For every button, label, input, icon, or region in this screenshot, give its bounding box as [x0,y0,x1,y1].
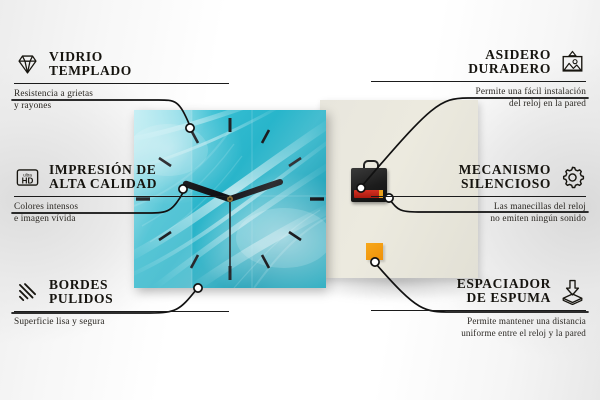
divider [14,196,229,197]
feature-title: IMPRESIÓN DE ALTA CALIDAD [49,163,157,192]
title-line-1: MECANISMO [459,163,551,177]
desc-line-2: del reloj en la pared [371,98,586,110]
title-line-2: DURADERO [468,62,551,76]
desc-line-2: no emiten ningún sonido [371,213,586,225]
feature-description: Superficie lisa y segura [14,316,229,328]
title-line-1: BORDES [49,278,113,292]
divider [371,310,586,311]
infographic-canvas: VIDRIO TEMPLADO Resistencia a grietas y … [0,0,600,400]
picture-hanger-icon [559,49,586,76]
title-line-1: IMPRESIÓN DE [49,163,157,177]
feature-title: BORDES PULIDOS [49,278,113,307]
feature-impresion-alta-calidad: ultra HD IMPRESIÓN DE ALTA CALIDAD Color… [14,163,229,226]
feature-header: BORDES PULIDOS [14,278,229,307]
feature-description: Las manecillas del reloj no emiten ningú… [371,201,586,226]
title-line-2: PULIDOS [49,292,113,306]
connector-dot-asidero [357,184,365,192]
desc-line-1: Permite una fácil instalación [371,86,586,98]
title-line-2: TEMPLADO [49,64,132,78]
divider [14,311,229,312]
title-line-2: DE ESPUMA [466,291,551,305]
feature-header: ultra HD IMPRESIÓN DE ALTA CALIDAD [14,163,229,192]
desc-line-1: Superficie lisa y segura [14,316,229,328]
desc-line-2: uniforme entre el reloj y la pared [371,327,586,339]
ultra-hd-icon: ultra HD [14,164,41,191]
feature-description: Permite una fácil instalación del reloj … [371,86,586,111]
desc-line-2: y rayones [14,100,229,112]
feature-header: ESPACIADOR DE ESPUMA [371,277,586,306]
feature-title: ESPACIADOR DE ESPUMA [457,277,551,306]
feature-description: Permite mantener una distancia uniforme … [371,315,586,339]
desc-line-1: Colores intensos [14,201,229,213]
diamond-icon [14,51,41,78]
desc-line-1: Las manecillas del reloj [371,201,586,213]
feature-vidrio-templado: VIDRIO TEMPLADO Resistencia a grietas y … [14,50,229,113]
feature-description: Colores intensos e imagen vívida [14,201,229,226]
divider [14,83,229,84]
feature-title: ASIDERO DURADERO [468,48,551,77]
hd-label: HD [22,176,34,185]
desc-line-1: Permite mantener una distancia [371,315,586,327]
title-line-1: ASIDERO [485,48,551,62]
divider [371,196,586,197]
title-line-2: SILENCIOSO [461,177,551,191]
feature-title: VIDRIO TEMPLADO [49,50,132,79]
foam-spacer-icon [559,278,586,305]
feature-header: MECANISMO SILENCIOSO [371,163,586,192]
feature-espaciador-de-espuma: ESPACIADOR DE ESPUMA Permite mantener un… [371,277,586,339]
desc-line-1: Resistencia a grietas [14,88,229,100]
feature-header: VIDRIO TEMPLADO [14,50,229,79]
title-line-1: ESPACIADOR [457,277,551,291]
title-line-2: ALTA CALIDAD [49,177,157,191]
connector-dot-vidrio [186,124,194,132]
title-line-1: VIDRIO [49,50,132,64]
divider [371,81,586,82]
polished-edges-icon [14,279,41,306]
desc-line-2: e imagen vívida [14,213,229,225]
gear-icon [559,164,586,191]
connector-dot-espaciador [371,258,379,266]
feature-asidero-duradero: ASIDERO DURADERO Permite una fácil insta… [371,48,586,111]
feature-description: Resistencia a grietas y rayones [14,88,229,113]
feature-bordes-pulidos: BORDES PULIDOS Superficie lisa y segura [14,278,229,328]
feature-mecanismo-silencioso: MECANISMO SILENCIOSO Las manecillas del … [371,163,586,226]
feature-title: MECANISMO SILENCIOSO [459,163,551,192]
feature-header: ASIDERO DURADERO [371,48,586,77]
